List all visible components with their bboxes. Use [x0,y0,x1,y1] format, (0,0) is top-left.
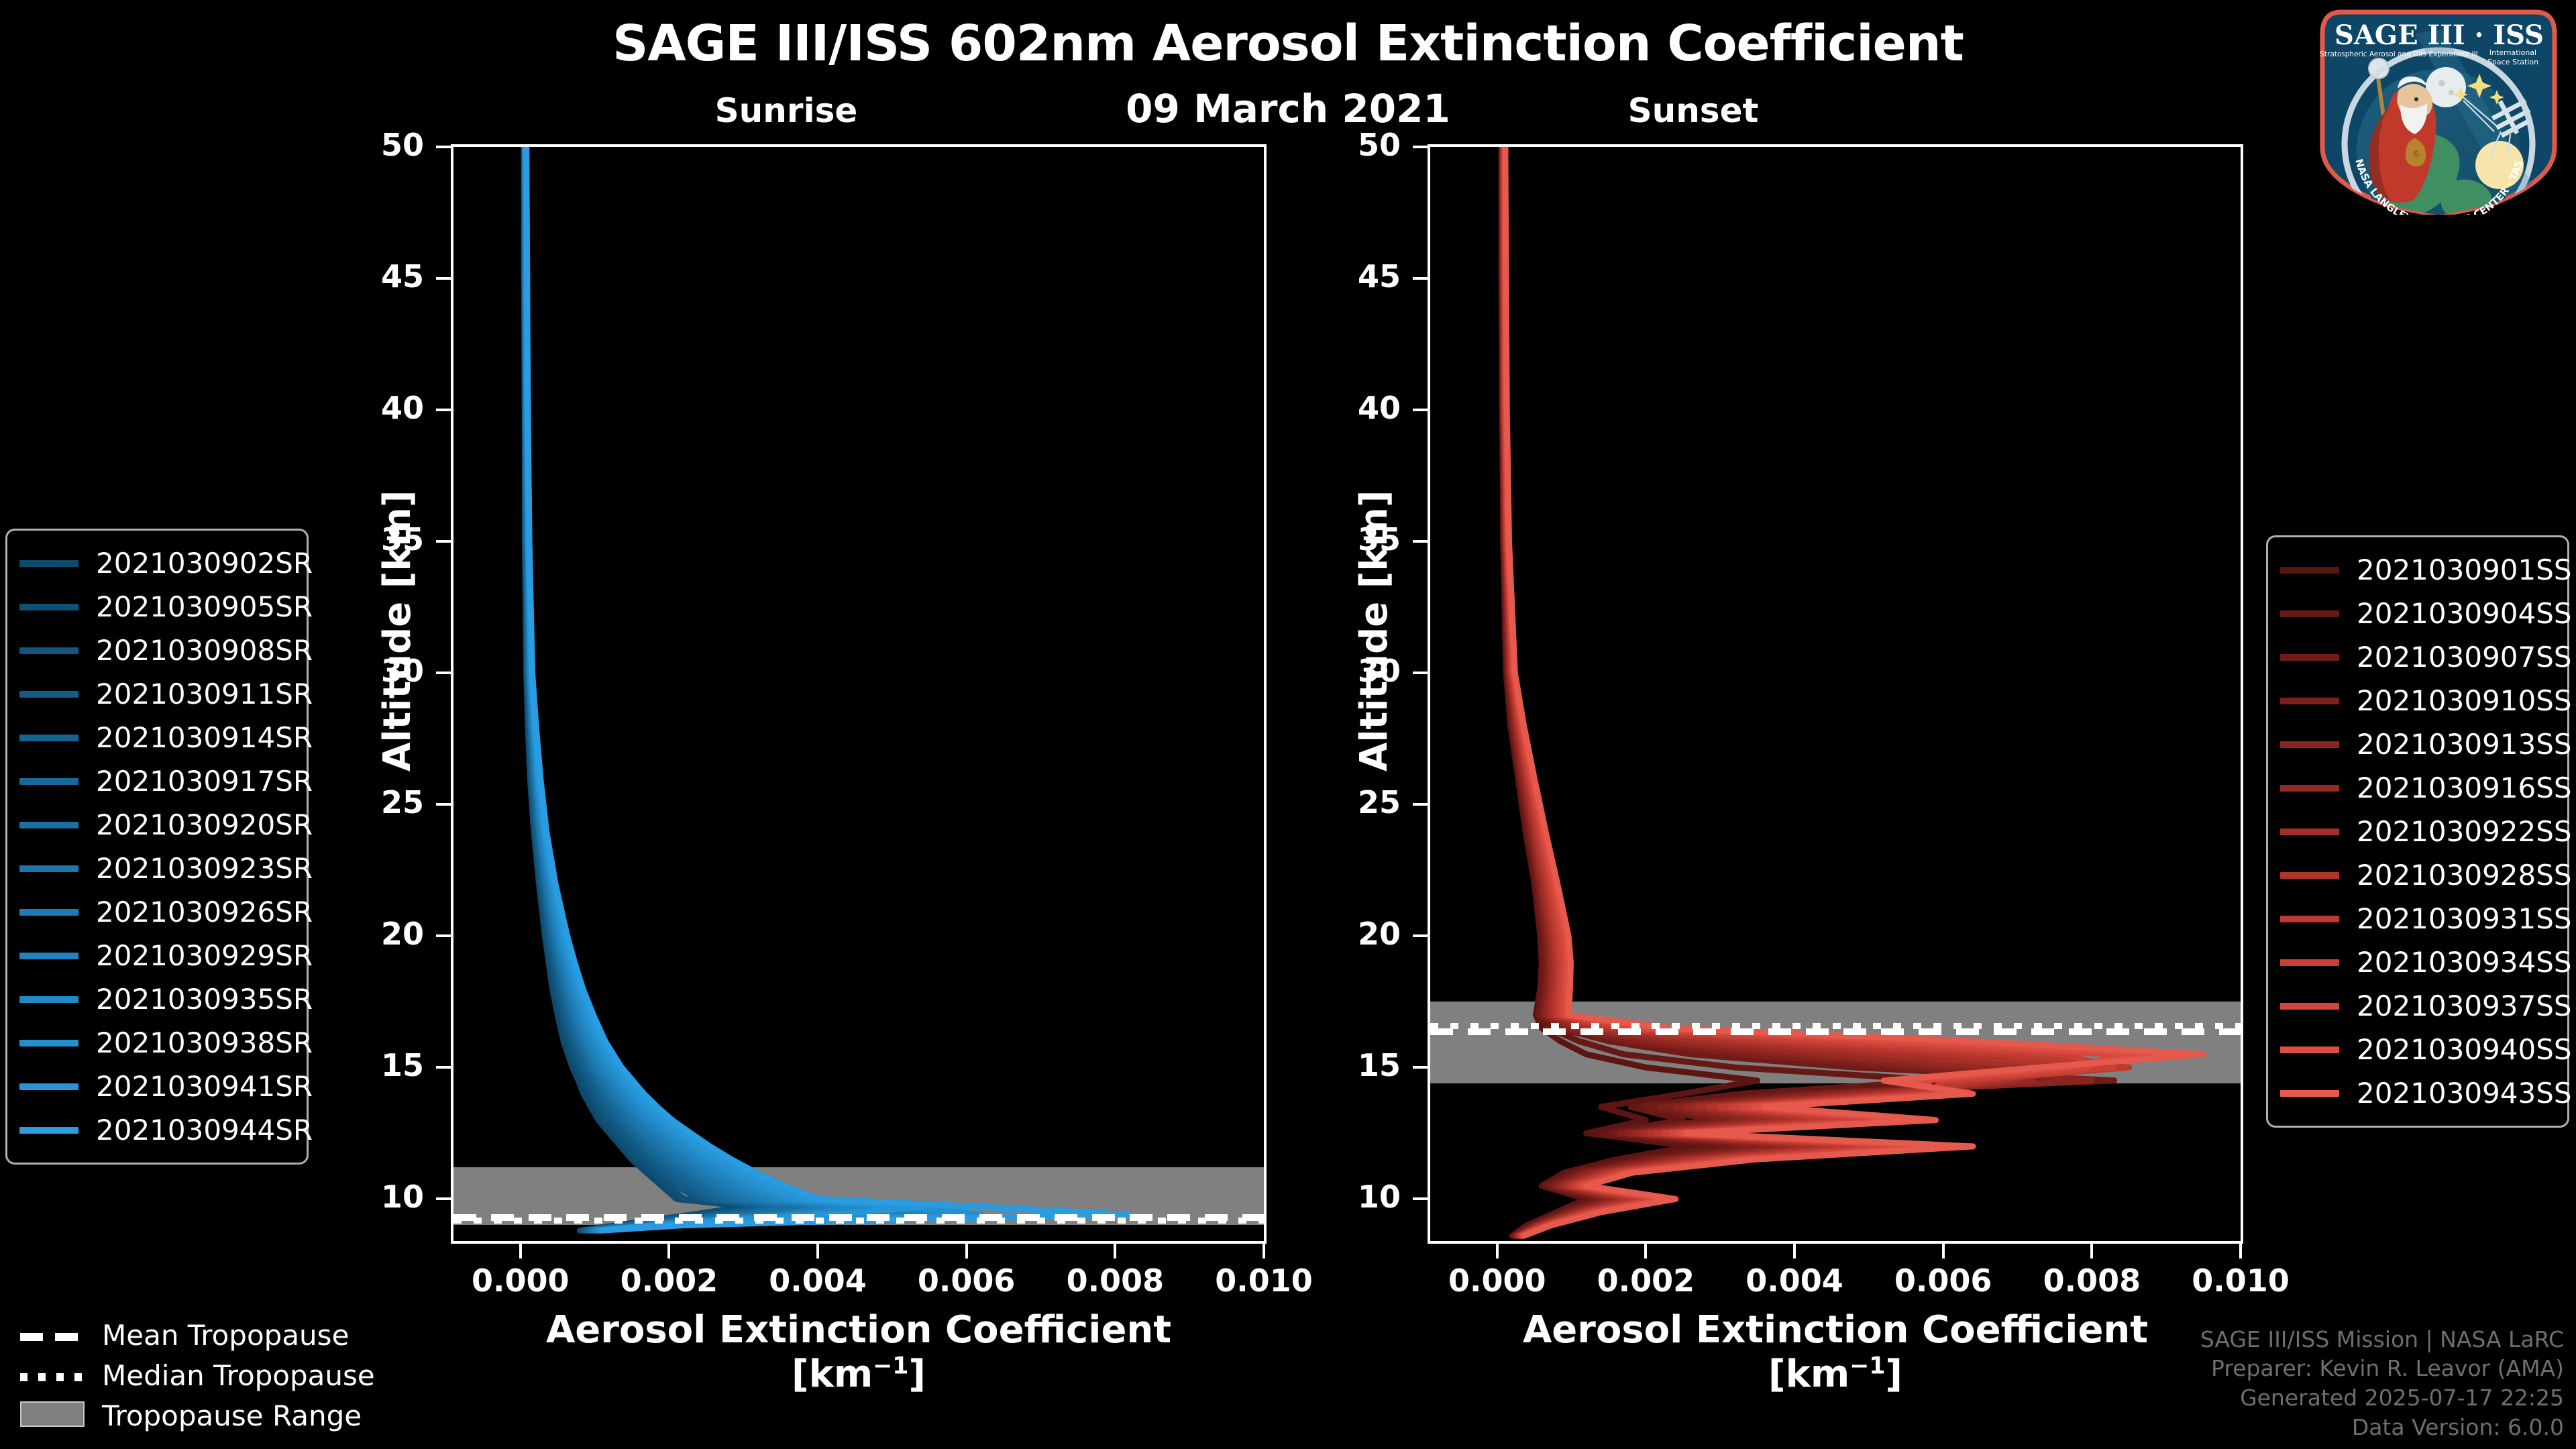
y-axis-tick-label: 50 [323,127,424,163]
y-axis-tick-label: 15 [323,1047,424,1083]
legend-event-label: 2021030922SS [2357,815,2572,848]
x-axis-title-line2: [km−1] [792,1352,926,1396]
y-axis-tick [436,934,451,937]
panel-heading-sunrise: Sunrise [585,91,987,130]
legend-event-label: 2021030904SS [2357,597,2572,630]
x-axis-title-line1: Aerosol Extinction Coefficient [1523,1308,2148,1352]
legend-item[interactable]: 2021030910SS [2280,679,2553,722]
x-axis-tick-label: 0.010 [1177,1263,1351,1299]
y-axis-tick-label: 25 [323,784,424,820]
plot-area-sunset [1428,144,2243,1244]
legend-event-label: 2021030902SR [96,547,313,580]
legend-event-label: 2021030938SR [96,1026,313,1059]
x-axis-tick [965,1244,968,1258]
legend-event-label: 2021030920SR [96,808,313,841]
legend-item[interactable]: 2021030905SR [19,585,292,629]
y-axis-tick [436,146,451,148]
legend-event-label: 2021030913SS [2357,728,2572,761]
x-axis-tick [519,1244,522,1258]
legend-item[interactable]: 2021030922SS [2280,810,2553,853]
legend-event-label: 2021030937SS [2357,989,2572,1022]
legend-item[interactable]: 2021030908SR [19,629,292,672]
legend-sunset[interactable]: 2021030901SS2021030904SS2021030907SS2021… [2266,535,2569,1128]
y-axis-tick [1413,803,1428,806]
profile-curves-sunset [1430,147,2241,1241]
y-axis-tick [1413,409,1428,411]
x-axis-tick-label: 0.010 [2153,1263,2328,1299]
x-axis-tick [1114,1244,1116,1258]
profile-line [525,147,792,1230]
legend-event-label: 2021030907SS [2357,641,2572,674]
x-axis-tick [816,1244,819,1258]
legend-color-swatch-icon [19,996,78,1003]
legend-item[interactable]: 2021030926SR [19,890,292,934]
profile-line [524,147,743,1230]
profile-line [525,147,803,1230]
y-axis-tick-label: 25 [1300,784,1401,820]
legend-item[interactable]: 2021030929SR [19,934,292,977]
dotted-line-icon [20,1373,85,1381]
legend-color-swatch-icon [2280,785,2339,792]
plot-area-sunrise [451,144,1267,1244]
y-axis-tick [1413,146,1428,148]
y-axis-tick-label: 50 [1300,127,1401,163]
y-axis-tick-label: 40 [323,390,424,426]
figure-canvas: SAGE III/ISS 602nm Aerosol Extinction Co… [0,0,2576,1449]
legend-item[interactable]: 2021030901SS [2280,548,2553,592]
legend-item-tropopause-range: Tropopause Range [20,1395,449,1436]
footer-preparer: Preparer: Kevin R. Leavor (AMA) [2200,1354,2564,1383]
page-title: SAGE III/ISS 602nm Aerosol Extinction Co… [0,15,2576,72]
legend-color-swatch-icon [2280,610,2339,617]
profile-line [1501,147,1757,1236]
legend-color-swatch-icon [19,604,78,610]
y-axis-tick-label: 10 [323,1179,424,1215]
legend-item[interactable]: 2021030902SR [19,541,292,585]
legend-event-label: 2021030911SR [96,678,313,710]
x-axis-title-line2: [km−1] [1768,1352,1902,1396]
x-axis-tick [667,1244,670,1258]
legend-color-swatch-icon [2280,1003,2339,1010]
legend-item[interactable]: 2021030904SS [2280,592,2553,635]
grey-band-swatch-icon [20,1401,85,1427]
y-axis-tick [1413,1197,1428,1200]
sage-iii-iss-mission-patch-logo: S SAGE III · ISS Stratospheric Aerosol a… [2314,7,2563,215]
legend-item[interactable]: 2021030928SS [2280,853,2553,897]
dashed-line-icon [20,1333,85,1341]
median-tropopause-line-sunrise [453,1218,1264,1224]
legend-item[interactable]: 2021030913SS [2280,722,2553,766]
y-axis-title-sunset: Altitude [km] [1352,490,1396,771]
svg-text:S: S [2414,150,2420,160]
logo-subtitle-right-1: International [2489,48,2536,57]
legend-event-label: 2021030941SR [96,1070,313,1103]
legend-color-swatch-icon [2280,828,2339,835]
logo-subtitle-left: Stratospheric Aerosol and Gas Experiment… [2320,50,2478,58]
legend-item[interactable]: 2021030934SS [2280,941,2553,984]
legend-color-swatch-icon [2280,698,2339,704]
profile-line [1501,147,1943,1236]
legend-event-label: 2021030914SR [96,721,313,754]
legend-color-swatch-icon [2280,567,2339,574]
legend-color-swatch-icon [19,778,78,785]
y-axis-tick-label: 40 [1300,390,1401,426]
legend-color-swatch-icon [19,953,78,959]
x-axis-title-sunset: Aerosol Extinction Coefficient [km−1] [1428,1308,2243,1397]
legend-item[interactable]: 2021030943SS [2280,1071,2553,1115]
y-axis-tick [436,409,451,411]
legend-event-label: 2021030916SS [2357,771,2572,804]
legend-item[interactable]: 2021030916SS [2280,766,2553,810]
y-axis-tick [1413,1066,1428,1069]
legend-item-median-tropopause: Median Tropopause [20,1355,449,1395]
y-axis-tick-label: 45 [1300,258,1401,294]
legend-color-swatch-icon [19,647,78,654]
y-axis-tick-label: 15 [1300,1047,1401,1083]
legend-color-swatch-icon [2280,959,2339,966]
footer-mission: SAGE III/ISS Mission | NASA LaRC [2200,1325,2564,1354]
y-axis-tick [436,672,451,674]
profile-line [525,147,780,1230]
legend-label-tropopause-range: Tropopause Range [102,1399,362,1432]
legend-event-label: 2021030943SS [2357,1077,2572,1110]
legend-color-swatch-icon [19,1040,78,1046]
legend-color-swatch-icon [19,1127,78,1134]
panel-heading-sunset: Sunset [1492,91,1894,130]
y-axis-tick-label: 45 [323,258,424,294]
legend-label-median-tropopause: Median Tropopause [102,1359,375,1392]
legend-event-label: 2021030934SS [2357,946,2572,979]
legend-event-label: 2021030923SR [96,852,313,885]
legend-event-label: 2021030944SR [96,1114,313,1146]
y-axis-tick [436,803,451,806]
legend-item[interactable]: 2021030923SR [19,847,292,890]
profile-line [524,147,765,1230]
profile-curves-sunrise [453,147,1264,1241]
legend-event-label: 2021030929SR [96,939,313,972]
legend-item[interactable]: 2021030935SR [19,977,292,1021]
y-axis-tick [436,277,451,280]
legend-sunrise[interactable]: 2021030902SR2021030905SR2021030908SR2021… [5,529,309,1165]
y-axis-tick [1413,277,1428,280]
x-axis-tick [1942,1244,1945,1258]
legend-event-label: 2021030908SR [96,634,313,667]
x-axis-title-sunrise: Aerosol Extinction Coefficient [km−1] [451,1308,1267,1397]
footer-credits: SAGE III/ISS Mission | NASA LaRC Prepare… [2200,1325,2564,1443]
legend-item[interactable]: 2021030940SS [2280,1028,2553,1071]
legend-color-swatch-icon [2280,916,2339,922]
legend-event-label: 2021030917SR [96,765,313,798]
legend-item[interactable]: 2021030907SS [2280,635,2553,679]
legend-color-swatch-icon [19,691,78,698]
legend-event-label: 2021030910SS [2357,684,2572,717]
x-axis-title-line1: Aerosol Extinction Coefficient [546,1308,1171,1352]
legend-item[interactable]: 2021030938SR [19,1021,292,1065]
legend-item[interactable]: 2021030914SR [19,716,292,759]
median-tropopause-line-sunset [1430,1023,2241,1029]
legend-event-label: 2021030901SS [2357,553,2572,586]
legend-color-swatch-icon [19,865,78,872]
y-axis-tick-label: 10 [1300,1179,1401,1215]
y-axis-tick [436,540,451,543]
legend-color-swatch-icon [19,735,78,741]
logo-subtitle-right-2: Space Station [2487,58,2538,66]
legend-color-swatch-icon [19,1083,78,1090]
legend-event-label: 2021030940SS [2357,1033,2572,1066]
y-axis-tick [436,1066,451,1069]
footer-version: Data Version: 6.0.0 [2200,1413,2564,1442]
legend-color-swatch-icon [2280,872,2339,879]
mean-tropopause-line-sunset [1430,1028,2241,1035]
legend-color-swatch-icon [2280,1090,2339,1097]
legend-color-swatch-icon [19,560,78,567]
legend-item[interactable]: 2021030931SS [2280,897,2553,941]
profile-line [524,147,780,1230]
x-axis-tick [1793,1244,1796,1258]
x-axis-tick [1263,1244,1265,1258]
logo-title: SAGE III · ISS [2334,19,2544,51]
x-axis-tick [2239,1244,2242,1258]
y-axis-tick-label: 20 [323,916,424,952]
y-axis-tick [436,1197,451,1200]
legend-label-mean-tropopause: Mean Tropopause [102,1319,349,1352]
legend-color-swatch-icon [2280,741,2339,748]
x-axis-tick [2090,1244,2093,1258]
legend-color-swatch-icon [19,909,78,916]
legend-item[interactable]: 2021030917SR [19,759,292,803]
legend-item[interactable]: 2021030920SR [19,803,292,847]
legend-item[interactable]: 2021030944SR [19,1108,292,1152]
y-axis-title-sunrise: Altitude [km] [376,490,419,771]
legend-event-label: 2021030931SS [2357,902,2572,935]
legend-color-swatch-icon [2280,654,2339,661]
legend-event-label: 2021030905SR [96,590,313,623]
legend-color-swatch-icon [2280,1046,2339,1053]
y-axis-tick [1413,540,1428,543]
legend-color-swatch-icon [19,822,78,828]
legend-event-label: 2021030926SR [96,896,313,928]
legend-item[interactable]: 2021030911SR [19,672,292,716]
legend-item-mean-tropopause: Mean Tropopause [20,1315,449,1355]
legend-item[interactable]: 2021030941SR [19,1065,292,1108]
x-axis-tick [1496,1244,1499,1258]
x-axis-tick [1644,1244,1647,1258]
y-axis-tick [1413,672,1428,674]
legend-event-label: 2021030928SS [2357,859,2572,892]
footer-generated: Generated 2025-07-17 22:25 [2200,1383,2564,1413]
tropopause-legend: Mean Tropopause Median Tropopause Tropop… [20,1315,449,1436]
legend-event-label: 2021030935SR [96,983,313,1016]
legend-item[interactable]: 2021030937SS [2280,984,2553,1028]
y-axis-tick [1413,934,1428,937]
subtitle-date: 09 March 2021 [0,86,2576,131]
y-axis-tick-label: 20 [1300,916,1401,952]
